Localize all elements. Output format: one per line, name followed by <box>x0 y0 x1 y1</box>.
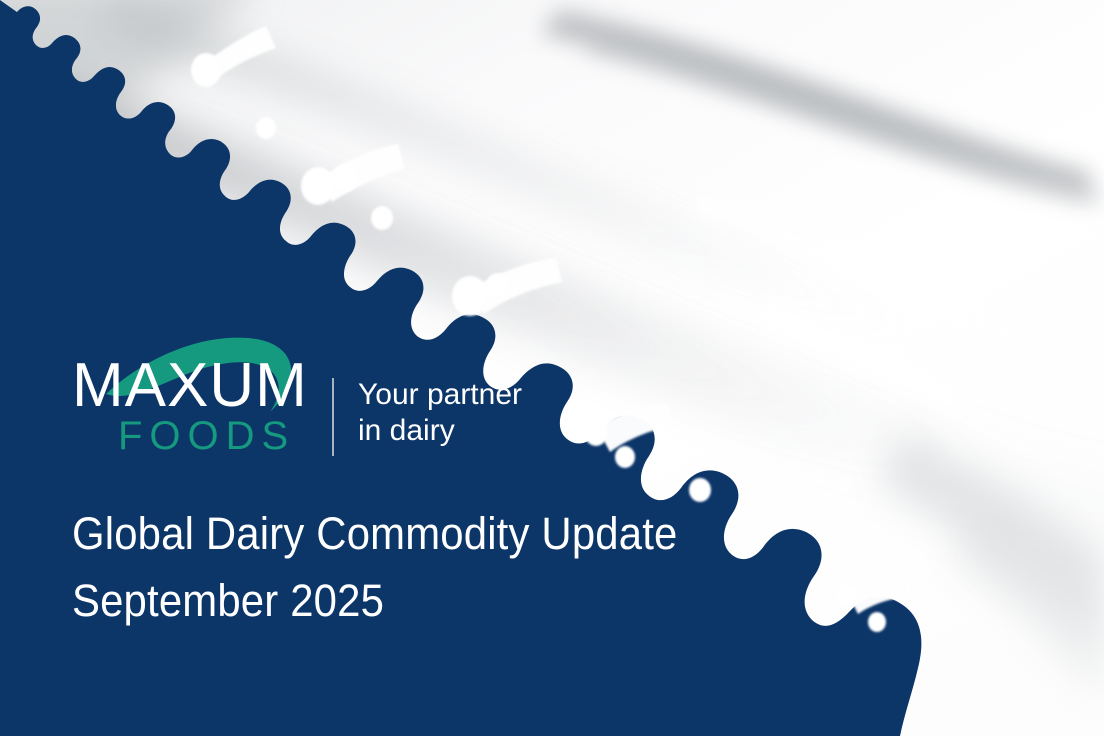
logo-submark: FOODS <box>118 414 295 458</box>
report-cover-page: MAXUM FOODS Your partner in dairy Global… <box>0 0 1104 736</box>
cover-title-line1: Global Dairy Commodity Update <box>72 500 742 567</box>
cover-title: Global Dairy Commodity Update September … <box>72 500 792 634</box>
logo-tagline-line1: Your partner <box>358 378 522 411</box>
cover-title-line2: September 2025 <box>72 567 742 634</box>
logo-wordmark: MAXUM <box>72 351 308 420</box>
brand-lockup: MAXUM FOODS Your partner in dairy <box>72 336 592 468</box>
maxum-foods-logo: MAXUM FOODS Your partner in dairy <box>72 336 592 468</box>
logo-tagline-line2: in dairy <box>358 414 455 447</box>
